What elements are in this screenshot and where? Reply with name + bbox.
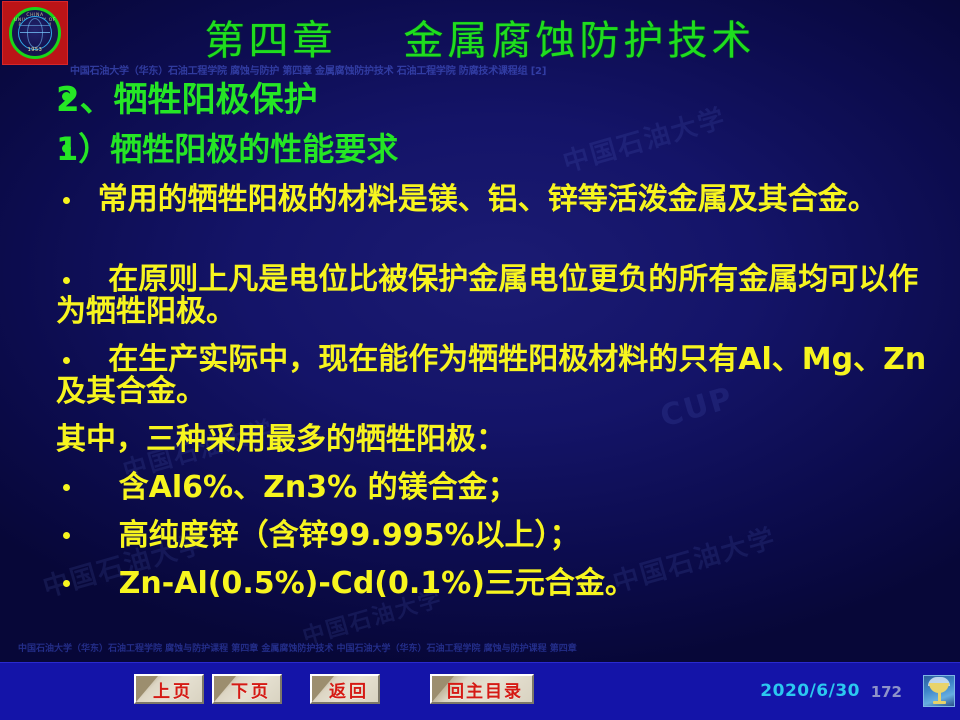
bullet-text: 含Al6%、Zn3% 的镁合金； (56, 472, 946, 504)
bullet-item: 其中，三种采用最多的牺牲阳极： (0, 424, 960, 456)
slide-footer: 中国石油大学（华东）石油工程学院 腐蚀与防护课程 第四章 金属腐蚀防护技术 中国… (0, 662, 960, 720)
main-menu-button[interactable]: 回主目录 (430, 674, 534, 704)
bullet-text: 2、牺牲阳极保护 (56, 82, 946, 119)
page-title: 第四章 金属腐蚀防护技术 (0, 8, 960, 66)
bullet-text: 其中，三种采用最多的牺牲阳极： (56, 424, 946, 456)
bullet-text: 1）牺牲阳极的性能要求 (56, 132, 946, 167)
bullet-item: 高纯度锌（含锌99.995%以上）； (0, 520, 960, 552)
next-page-label: 下页 (231, 677, 271, 702)
return-label: 返回 (329, 677, 369, 702)
bullet-item: 2、牺牲阳极保护 (0, 82, 960, 119)
bullet-text: 常用的牺牲阳极的材料是镁、铝、锌等活泼金属及其合金。 (56, 184, 946, 216)
slide-body: 2、牺牲阳极保护1）牺牲阳极的性能要求 常用的牺牲阳极的材料是镁、铝、锌等活泼金… (0, 72, 960, 632)
bullet-item: 在生产实际中，现在能作为牺牲阳极材料的只有Al、Mg、Zn及其合金。 (0, 344, 960, 409)
presentation-slide: 中国石油大学CUP中国石油大学中国石油大学中国石油大学中国石油大学 CHINA … (0, 0, 960, 720)
bullet-text: 在生产实际中，现在能作为牺牲阳极材料的只有Al、Mg、Zn及其合金。 (56, 344, 946, 409)
slide-page-number: 172 (871, 683, 902, 701)
previous-page-button[interactable]: 上页 (134, 674, 204, 704)
slide-date: 2020/6/30 (760, 681, 860, 701)
bullet-item: 1）牺牲阳极的性能要求 (0, 132, 960, 167)
bullet-item: Zn-Al(0.5%)-Cd(0.1%)三元合金。 (0, 568, 960, 600)
next-page-button[interactable]: 下页 (212, 674, 282, 704)
fountain-base (933, 701, 946, 704)
bullet-item: 在原则上凡是电位比被保护金属电位更负的所有金属均可以作为牺牲阳极。 (0, 264, 960, 329)
fountain-icon (923, 675, 955, 707)
bullet-item: 含Al6%、Zn3% 的镁合金； (0, 472, 960, 504)
return-button[interactable]: 返回 (310, 674, 380, 704)
previous-page-label: 上页 (153, 677, 193, 702)
main-menu-label: 回主目录 (447, 677, 523, 702)
slide-header: CHINA UNIVERSITY OF PETROLEUM 1953 第四章 金… (0, 0, 960, 70)
bullet-text: 在原则上凡是电位比被保护金属电位更负的所有金属均可以作为牺牲阳极。 (56, 264, 946, 329)
footer-watermark-text: 中国石油大学（华东）石油工程学院 腐蚀与防护课程 第四章 金属腐蚀防护技术 中国… (18, 641, 942, 654)
bullet-text: 高纯度锌（含锌99.995%以上）； (56, 520, 946, 552)
bullet-text: Zn-Al(0.5%)-Cd(0.1%)三元合金。 (56, 568, 946, 600)
bullet-item: 常用的牺牲阳极的材料是镁、铝、锌等活泼金属及其合金。 (0, 184, 960, 216)
